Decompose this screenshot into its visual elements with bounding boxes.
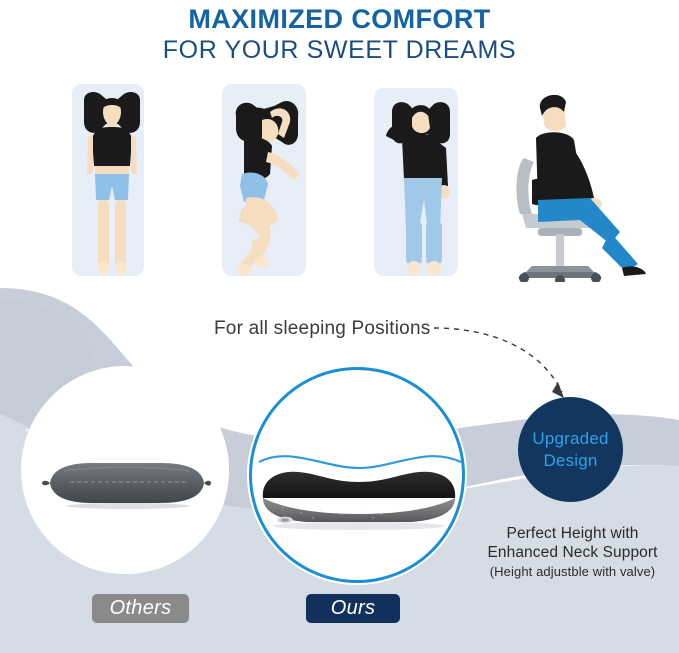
badge-line-2: Design xyxy=(543,450,597,472)
page-subtitle: FOR YOUR SWEET DREAMS xyxy=(0,36,679,64)
others-pillow-image xyxy=(40,455,212,509)
badge-line-1: Upgraded xyxy=(532,428,608,450)
others-label-badge: Others xyxy=(92,594,189,623)
sleeping-positions-row xyxy=(0,82,679,287)
feature-line-2: Enhanced Neck Support xyxy=(466,543,679,562)
infographic-canvas: MAXIMIZED COMFORT FOR YOUR SWEET DREAMS xyxy=(0,0,679,653)
illustration-side-sleeper-fetal xyxy=(218,82,328,282)
illustration-office-chair-sitter xyxy=(498,82,668,282)
feature-description: Perfect Height with Enhanced Neck Suppor… xyxy=(466,524,679,581)
page-title: MAXIMIZED COMFORT xyxy=(0,4,679,34)
ours-label-badge: Ours xyxy=(306,594,400,623)
header: MAXIMIZED COMFORT FOR YOUR SWEET DREAMS xyxy=(0,0,679,64)
illustration-back-sleeper xyxy=(62,82,162,282)
upgraded-design-badge: Upgraded Design xyxy=(518,397,623,502)
feature-line-3: (Height adjustble with valve) xyxy=(466,563,679,581)
all-positions-caption: For all sleeping Positions xyxy=(214,318,430,340)
feature-line-1: Perfect Height with xyxy=(466,524,679,543)
illustration-side-back-sleeper xyxy=(372,82,482,282)
ours-pillow-image xyxy=(255,440,465,530)
